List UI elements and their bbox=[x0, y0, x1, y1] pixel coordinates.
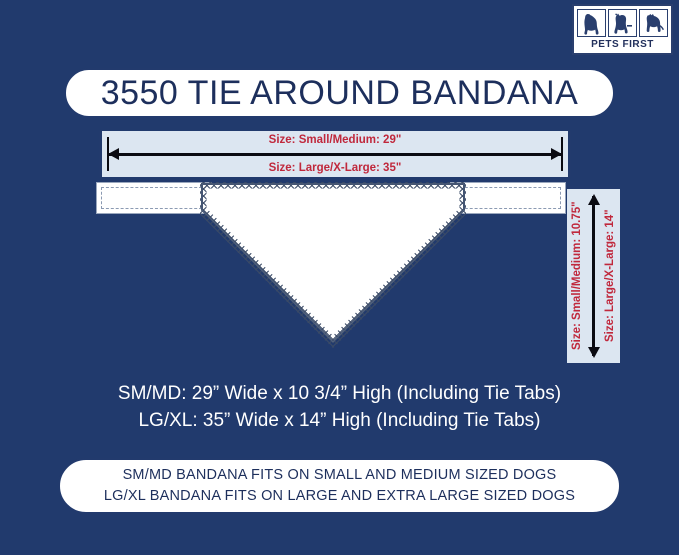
dog-silhouette-sitting-icon bbox=[577, 9, 606, 37]
pets-first-logo: PETS FIRST bbox=[572, 4, 673, 55]
tie-tab-right-stitching bbox=[455, 187, 561, 209]
height-arrow-shaft bbox=[592, 196, 595, 356]
width-arrow-shaft bbox=[109, 153, 561, 156]
tie-tab-right bbox=[450, 182, 566, 214]
product-title-banner: 3550 TIE AROUND BANDANA bbox=[64, 68, 615, 118]
bandana-illustration bbox=[96, 182, 566, 352]
height-arrowhead-top-icon bbox=[588, 194, 600, 205]
logo-brand-text: PETS FIRST bbox=[591, 39, 654, 50]
height-arrowhead-bottom-icon bbox=[588, 347, 600, 358]
width-label-small-medium: Size: Small/Medium: 29" bbox=[102, 134, 568, 146]
logo-dog-icons bbox=[577, 9, 668, 37]
height-label-large-xlarge: Size: Large/X-Large: 14" bbox=[604, 189, 616, 363]
dimension-spec-block: SM/MD: 29” Wide x 10 3/4” High (Includin… bbox=[0, 380, 679, 434]
height-label-small-medium: Size: Small/Medium: 10.75" bbox=[571, 189, 583, 363]
tie-tab-left bbox=[96, 182, 212, 214]
dog-silhouette-begging-icon bbox=[608, 9, 637, 37]
dog-silhouette-standing-icon bbox=[639, 9, 668, 37]
product-diagram-canvas: PETS FIRST 3550 TIE AROUND BANDANA Size:… bbox=[0, 0, 679, 555]
tie-tab-left-stitching bbox=[101, 187, 207, 209]
spec-line-sm-md: SM/MD: 29” Wide x 10 3/4” High (Includin… bbox=[0, 380, 679, 407]
width-arrowhead-left-icon bbox=[108, 148, 119, 160]
bandana-body-triangle bbox=[200, 182, 466, 352]
fit-note-line-lg-xl: LG/XL BANDANA FITS ON LARGE AND EXTRA LA… bbox=[104, 486, 575, 507]
fit-note-line-sm-md: SM/MD BANDANA FITS ON SMALL AND MEDIUM S… bbox=[123, 465, 557, 486]
width-measurement-band: Size: Small/Medium: 29" Size: Large/X-La… bbox=[99, 131, 571, 177]
width-label-large-xlarge: Size: Large/X-Large: 35" bbox=[102, 162, 568, 174]
fit-note-banner: SM/MD BANDANA FITS ON SMALL AND MEDIUM S… bbox=[58, 458, 621, 514]
spec-line-lg-xl: LG/XL: 35” Wide x 14” High (Including Ti… bbox=[0, 407, 679, 434]
height-measurement-band: Size: Small/Medium: 10.75" Size: Large/X… bbox=[567, 186, 620, 366]
width-arrowhead-right-icon bbox=[551, 148, 562, 160]
page-title: 3550 TIE AROUND BANDANA bbox=[101, 74, 579, 113]
